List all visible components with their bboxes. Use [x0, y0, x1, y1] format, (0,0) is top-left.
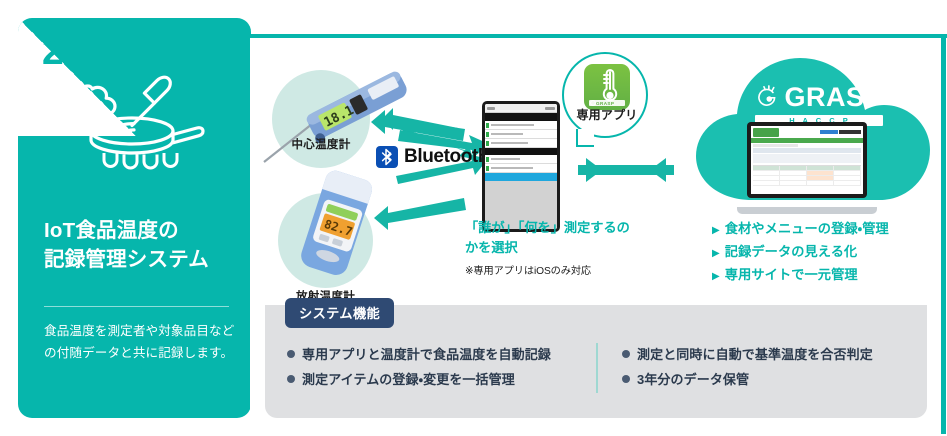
list-item: ▶ 記録データの見える化 [712, 241, 937, 264]
bluetooth-icon [376, 146, 398, 168]
cooking-pan-thermometer-icon [66, 70, 206, 175]
phone-list-row [485, 164, 557, 173]
list-item: 測定アイテムの登録・変更を一括管理 [287, 368, 596, 393]
core-thermometer-label: 中心温度計 [272, 136, 370, 152]
bluetooth-wordmark: Bluetooth [404, 146, 489, 168]
step-panel: 2 IoT食品温度の 記録管理システム 食 [18, 18, 251, 418]
phone-primary-button[interactable] [485, 173, 557, 181]
bullet-dot-icon [622, 350, 630, 358]
system-functions-panel: システム機能 専用アプリと温度計で食品温度を自動記録 測定アイテムの登録・変更を… [265, 305, 927, 418]
laptop-icon [737, 122, 877, 214]
list-item: 専用アプリと温度計で食品温度を自動記録 [287, 343, 596, 368]
list-item-label: 専用サイトで一元管理 [725, 264, 858, 287]
laptop-base [737, 207, 877, 214]
phone-statusbar [485, 104, 557, 113]
triangle-bullet-icon: ▶ [712, 226, 720, 236]
list-item: ▶ 食材やメニューの登録・管理 [712, 218, 937, 241]
phone-note: ※専用アプリはiOSのみ対応 [465, 262, 655, 277]
panel-divider [44, 306, 229, 307]
system-functions-right-column: 測定と同時に自動で基準温度を合否判定 3年分のデータ保管 [596, 343, 911, 393]
list-item-label: 記録データの見える化 [725, 241, 857, 264]
phone-list-row [485, 155, 557, 164]
step-number: 2 [42, 32, 63, 71]
list-item-label: 測定アイテムの登録・変更を一括管理 [302, 368, 515, 393]
phone-caption: 「誰が」「何を」測定するのかを選択 [465, 218, 640, 258]
radiation-thermometer-icon: 82.7 [278, 166, 398, 296]
smartphone-icon [482, 101, 560, 232]
frame-right-border [941, 34, 946, 434]
panel-description: 食品温度を測定者や対象品目などの付随データと共に記録します。 [44, 321, 239, 364]
system-functions-left-column: 専用アプリと温度計で食品温度を自動記録 測定アイテムの登録・変更を一括管理 [281, 343, 596, 393]
phone-list-row [485, 121, 557, 130]
list-item-label: 食材やメニューの登録・管理 [725, 218, 889, 241]
phone-screen [485, 104, 557, 229]
bullet-dot-icon [287, 350, 295, 358]
cloud-feature-list: ▶ 食材やメニューの登録・管理 ▶ 記録データの見える化 ▶ 専用サイトで一元管… [712, 218, 937, 287]
list-item-label: 測定と同時に自動で基準温度を合否判定 [637, 343, 873, 368]
dashboard-header [751, 126, 863, 138]
triangle-bullet-icon: ▶ [712, 249, 720, 259]
list-item-label: 3年分のデータ保管 [637, 368, 749, 393]
phone-navbar [485, 113, 557, 121]
triangle-bullet-icon: ▶ [712, 272, 720, 282]
laptop-lid [747, 122, 867, 198]
dashboard-table [753, 165, 861, 186]
list-item: ▶ 専用サイトで一元管理 [712, 264, 937, 287]
infographic-root: 2 IoT食品温度の 記録管理システム 食 [0, 0, 947, 436]
list-item: 測定と同時に自動で基準温度を合否判定 [622, 343, 911, 368]
phone-list-row [485, 130, 557, 139]
dashboard-navbar [751, 138, 863, 143]
phone-section-band [485, 148, 557, 155]
app-label: 専用アプリ [564, 106, 650, 123]
panel-title-line1: IoT食品温度の [44, 216, 244, 245]
phone-list-row [485, 139, 557, 148]
system-functions-badge: システム機能 [285, 298, 394, 328]
grasp-g-icon [755, 82, 779, 112]
app-callout-bubble: GRASP 専用アプリ [562, 52, 648, 138]
grasp-wordmark: GRASP [784, 84, 883, 111]
bullet-dot-icon [287, 375, 295, 383]
panel-title-line2: 記録管理システム [44, 245, 244, 274]
laptop-screen [751, 126, 863, 194]
list-item-label: 専用アプリと温度計で食品温度を自動記録 [302, 343, 551, 368]
grasp-app-icon: GRASP [584, 64, 630, 110]
panel-title: IoT食品温度の 記録管理システム [44, 216, 244, 274]
system-functions-columns: 専用アプリと温度計で食品温度を自動記録 測定アイテムの登録・変更を一括管理 測定… [281, 343, 911, 393]
bullet-dot-icon [622, 375, 630, 383]
list-item: 3年分のデータ保管 [622, 368, 911, 393]
